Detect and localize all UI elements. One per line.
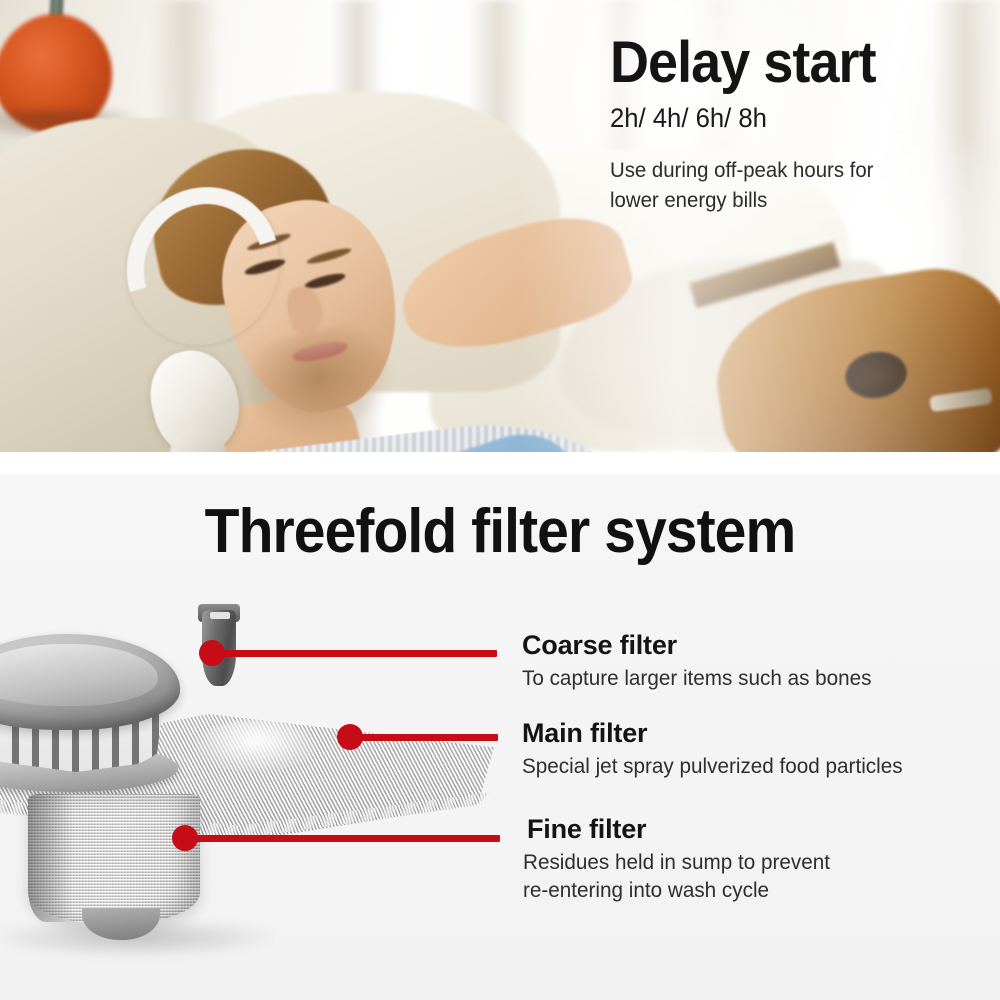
main-filter-description: Special jet spray pulverized food partic…: [522, 753, 985, 781]
fine-filter-leader-line: [185, 835, 500, 842]
fine-filter-shading: [28, 794, 74, 922]
threefold-filter-panel: Threefold filter system Co: [0, 474, 1000, 1000]
delay-start-title: Delay start: [610, 34, 963, 92]
fine-filter-label-block: Fine filter Residues held in sump to pre…: [527, 814, 997, 906]
fine-filter-description: Residues held in sump to prevent re-ente…: [523, 849, 990, 906]
main-filter-marker-dot: [337, 724, 363, 750]
fine-filter-title: Fine filter: [527, 814, 997, 845]
filter-system-heading: Threefold filter system: [0, 496, 1000, 567]
coarse-filter-description: To capture larger items such as bones: [522, 665, 985, 693]
delay-start-panel: Delay start 2h/ 4h/ 6h/ 8h Use during of…: [0, 0, 1000, 452]
delay-start-subtitle: 2h/ 4h/ 6h/ 8h: [610, 104, 971, 134]
delay-start-body-line-1: Use during off-peak hours for: [610, 156, 979, 186]
fine-filter-marker-dot: [172, 825, 198, 851]
fine-filter-description-line-1: Residues held in sump to prevent: [523, 849, 990, 877]
spindle-slot: [210, 612, 230, 619]
main-filter-title: Main filter: [522, 718, 992, 749]
coarse-filter-marker-dot: [199, 640, 225, 666]
main-filter-label-block: Main filter Special jet spray pulverized…: [522, 718, 992, 781]
fine-filter-description-line-2: re-entering into wash cycle: [523, 877, 990, 905]
coarse-filter-title: Coarse filter: [522, 630, 992, 661]
delay-start-body: Use during off-peak hours for lower ener…: [610, 156, 979, 216]
mesh-plate-highlight: [196, 720, 316, 772]
product-feature-page: Delay start 2h/ 4h/ 6h/ 8h Use during of…: [0, 0, 1000, 1000]
main-filter-leader-line: [350, 734, 498, 741]
delay-start-text-block: Delay start 2h/ 4h/ 6h/ 8h Use during of…: [610, 34, 990, 215]
coarse-filter-leader-line: [212, 650, 497, 657]
coarse-filter-label-block: Coarse filter To capture larger items su…: [522, 630, 992, 693]
delay-start-body-line-2: lower energy bills: [610, 186, 979, 216]
filter-system-heading-text: Threefold filter system: [205, 496, 796, 567]
